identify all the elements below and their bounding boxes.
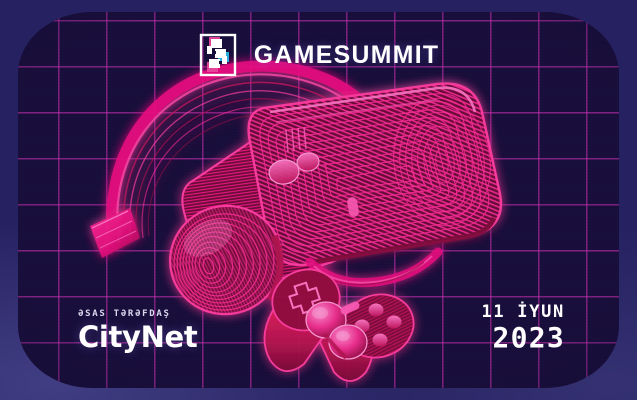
event-date-block: 11 İYUN 2023 — [481, 303, 565, 352]
sponsor-name: CityNet — [78, 323, 197, 352]
crt-screen: GAMESUMMIT ƏSAS TƏRƏFDAŞ CityNet 11 İYUN… — [18, 12, 619, 388]
sponsor-label: ƏSAS TƏRƏFDAŞ — [78, 309, 197, 319]
event-date-year: 2023 — [481, 324, 565, 352]
brand-title: GAMESUMMIT — [254, 43, 439, 68]
sponsor-block: ƏSAS TƏRƏFDAŞ CityNet — [78, 309, 197, 352]
gamesummit-logo-icon — [197, 32, 239, 78]
event-date-day: 11 İYUN — [481, 303, 565, 322]
poster-root: GAMESUMMIT ƏSAS TƏRƏFDAŞ CityNet 11 İYUN… — [0, 0, 637, 400]
brand-header: GAMESUMMIT — [18, 32, 619, 78]
